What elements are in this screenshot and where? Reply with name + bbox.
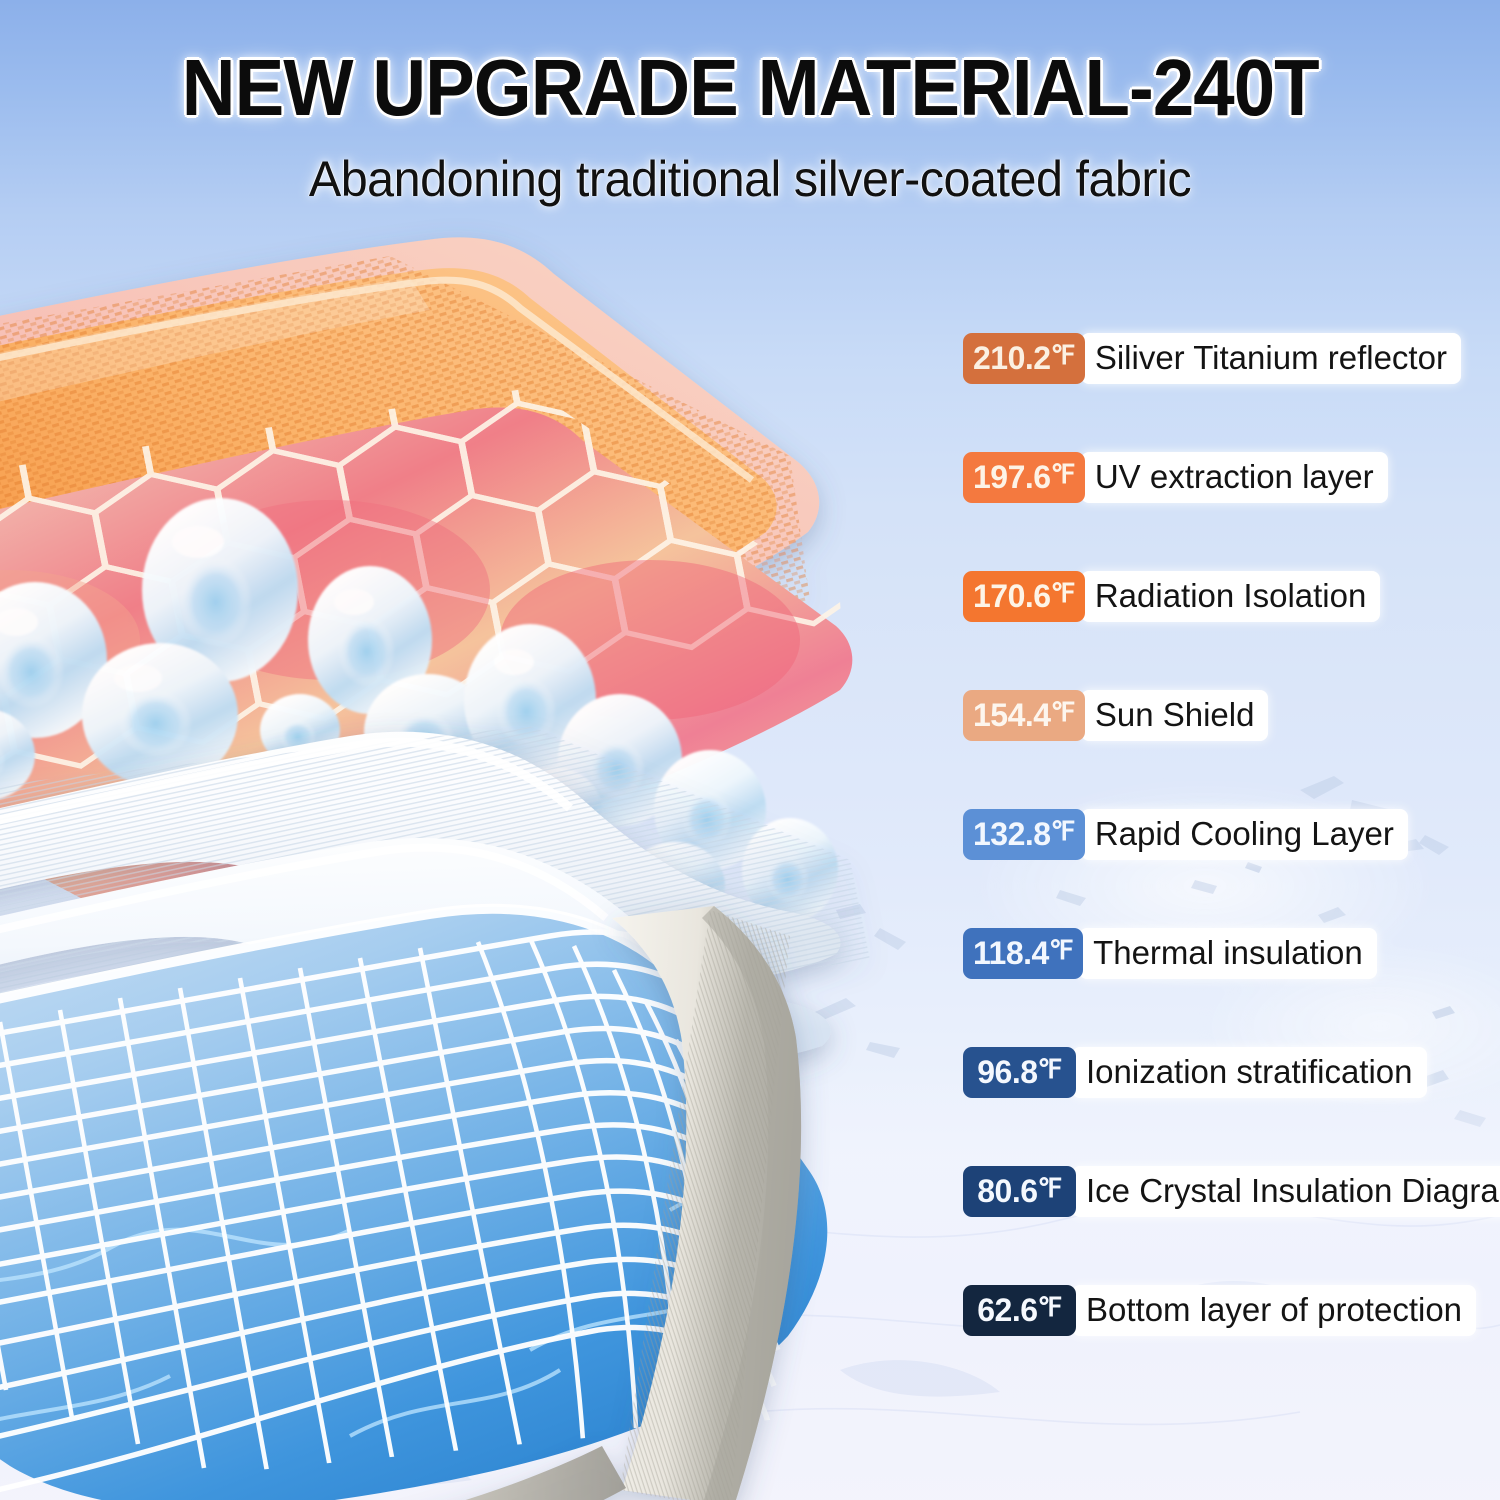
layer-name-pill: Thermal insulation — [1079, 928, 1377, 979]
degree-fahrenheit-icon: ℉ — [1051, 461, 1075, 487]
layer-name-pill: Rapid Cooling Layer — [1081, 809, 1408, 860]
temperature-value: 154.4 — [973, 699, 1051, 731]
layer-label-row[interactable]: 132.8℉Rapid Cooling Layer — [963, 809, 1408, 860]
page-title: NEW UPGRADE MATERIAL-240T — [182, 48, 1319, 128]
layer-name-pill: Sun Shield — [1081, 690, 1269, 741]
layer-name-pill: Radiation Isolation — [1081, 571, 1381, 622]
layered-fabric-illustration — [0, 170, 1050, 1500]
header-block: NEW UPGRADE MATERIAL-240T Abandoning tra… — [0, 48, 1500, 208]
layer-label-row[interactable]: 197.6℉UV extraction layer — [963, 452, 1388, 503]
temperature-value: 80.6 — [977, 1175, 1037, 1207]
layer-label-row[interactable]: 154.4℉Sun Shield — [963, 690, 1268, 741]
layer-label-row[interactable]: 80.6℉Ice Crystal Insulation Diagram — [963, 1166, 1500, 1217]
temperature-value: 62.6 — [977, 1294, 1037, 1326]
degree-fahrenheit-icon: ℉ — [1038, 1294, 1062, 1320]
layer-name-pill: Ionization stratification — [1072, 1047, 1427, 1098]
temperature-badge: 118.4℉ — [963, 928, 1083, 979]
temperature-value: 170.6 — [973, 580, 1051, 612]
degree-fahrenheit-icon: ℉ — [1051, 342, 1075, 368]
degree-fahrenheit-icon: ℉ — [1038, 1175, 1062, 1201]
temperature-badge: 154.4℉ — [963, 690, 1085, 741]
layer-label-row[interactable]: 210.2℉Siliver Titanium reflector — [963, 333, 1461, 384]
temperature-badge: 80.6℉ — [963, 1166, 1076, 1217]
temperature-value: 96.8 — [977, 1056, 1037, 1088]
infographic-canvas: NEW UPGRADE MATERIAL-240T Abandoning tra… — [0, 0, 1500, 1500]
degree-fahrenheit-icon: ℉ — [1051, 580, 1075, 606]
degree-fahrenheit-icon: ℉ — [1038, 1056, 1062, 1082]
degree-fahrenheit-icon: ℉ — [1049, 937, 1073, 963]
temperature-badge: 132.8℉ — [963, 809, 1085, 860]
layer-name-pill: Bottom layer of protection — [1072, 1285, 1476, 1336]
layer-name-pill: Ice Crystal Insulation Diagram — [1072, 1166, 1500, 1217]
degree-fahrenheit-icon: ℉ — [1051, 699, 1075, 725]
layer-name-pill: Siliver Titanium reflector — [1081, 333, 1461, 384]
layer-label-list: 210.2℉Siliver Titanium reflector197.6℉UV… — [963, 333, 1493, 1404]
layer-label-row[interactable]: 96.8℉Ionization stratification — [963, 1047, 1427, 1098]
layer-name-pill: UV extraction layer — [1081, 452, 1388, 503]
temperature-badge: 210.2℉ — [963, 333, 1085, 384]
temperature-badge: 197.6℉ — [963, 452, 1085, 503]
temperature-value: 132.8 — [973, 818, 1051, 850]
temperature-badge: 62.6℉ — [963, 1285, 1076, 1336]
degree-fahrenheit-icon: ℉ — [1051, 818, 1075, 844]
layer-label-row[interactable]: 118.4℉Thermal insulation — [963, 928, 1377, 979]
temperature-value: 197.6 — [973, 461, 1051, 493]
page-subtitle: Abandoning traditional silver-coated fab… — [23, 150, 1478, 208]
temperature-value: 210.2 — [973, 342, 1051, 374]
layer-label-row[interactable]: 62.6℉Bottom layer of protection — [963, 1285, 1476, 1336]
layer-label-row[interactable]: 170.6℉Radiation Isolation — [963, 571, 1380, 622]
temperature-badge: 96.8℉ — [963, 1047, 1076, 1098]
temperature-badge: 170.6℉ — [963, 571, 1085, 622]
temperature-value: 118.4 — [973, 937, 1049, 969]
